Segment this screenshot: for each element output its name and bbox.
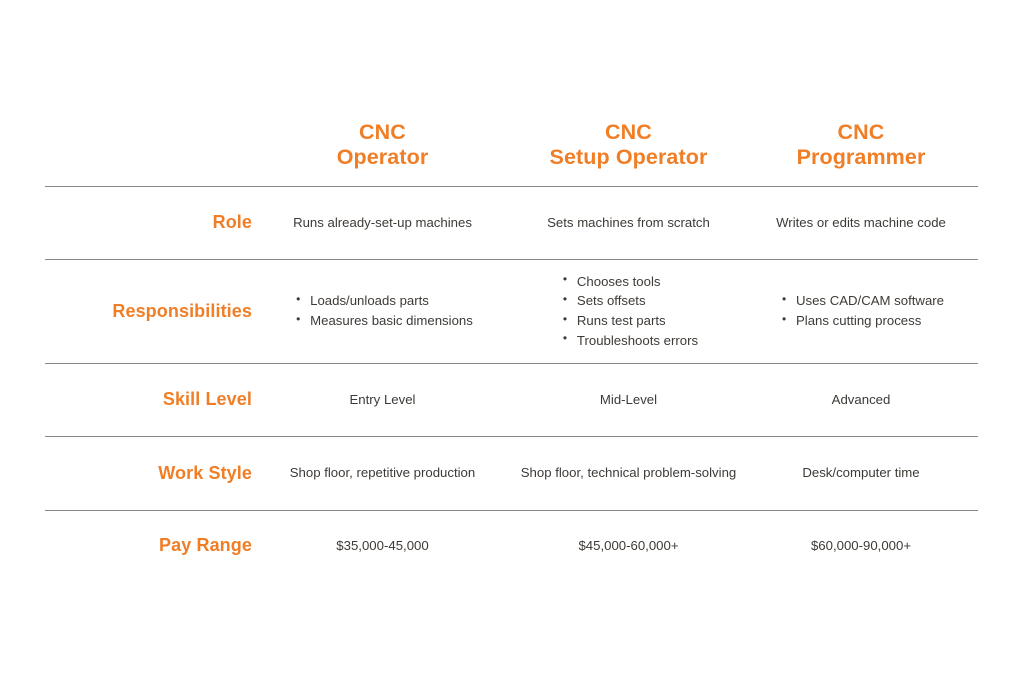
cell-text: Shop floor, technical problem-solving xyxy=(513,463,744,482)
column-header-cnc-setup-operator: CNC Setup Operator xyxy=(513,105,744,186)
cell-text: $60,000-90,000+ xyxy=(744,536,978,555)
cell-text: Advanced xyxy=(744,390,978,409)
list-item: Uses CAD/CAM software xyxy=(796,291,944,311)
column-header-line-2: Operator xyxy=(260,145,505,170)
bullet-list: Uses CAD/CAM software Plans cutting proc… xyxy=(778,291,944,330)
table-header-row: CNC Operator CNC Setup Operator CNC Prog… xyxy=(45,105,978,186)
list-item: Plans cutting process xyxy=(796,311,944,331)
cell-work-style-programmer: Desk/computer time xyxy=(744,436,978,510)
column-header-cnc-operator: CNC Operator xyxy=(252,105,513,186)
list-item: Troubleshoots errors xyxy=(577,331,698,351)
list-item: Measures basic dimensions xyxy=(310,311,473,331)
cell-text: Entry Level xyxy=(252,390,513,409)
column-header-line-1: CNC xyxy=(752,120,970,145)
cell-responsibilities-operator: Loads/unloads parts Measures basic dimen… xyxy=(252,259,513,363)
row-label-responsibilities: Responsibilities xyxy=(45,259,252,363)
cell-role-programmer: Writes or edits machine code xyxy=(744,186,978,259)
cell-role-operator: Runs already-set-up machines xyxy=(252,186,513,259)
column-header-line-1: CNC xyxy=(521,120,736,145)
cell-text: $45,000-60,000+ xyxy=(513,536,744,555)
row-label-skill-level: Skill Level xyxy=(45,363,252,436)
column-header-line-2: Setup Operator xyxy=(521,145,736,170)
table-row: Work Style Shop floor, repetitive produc… xyxy=(45,436,978,510)
table-row: Role Runs already-set-up machines Sets m… xyxy=(45,186,978,259)
cell-pay-range-programmer: $60,000-90,000+ xyxy=(744,510,978,581)
row-label-role: Role xyxy=(45,186,252,259)
cell-pay-range-operator: $35,000-45,000 xyxy=(252,510,513,581)
cell-text: Writes or edits machine code xyxy=(744,213,978,232)
cell-pay-range-setup-operator: $45,000-60,000+ xyxy=(513,510,744,581)
column-header-line-1: CNC xyxy=(260,120,505,145)
cell-responsibilities-programmer: Uses CAD/CAM software Plans cutting proc… xyxy=(744,259,978,363)
cell-work-style-setup-operator: Shop floor, technical problem-solving xyxy=(513,436,744,510)
table-row: Pay Range $35,000-45,000 $45,000-60,000+… xyxy=(45,510,978,581)
header-corner-spacer xyxy=(45,105,252,186)
cell-text: Runs already-set-up machines xyxy=(252,213,513,232)
bullet-list: Chooses tools Sets offsets Runs test par… xyxy=(559,272,698,350)
cell-text: $35,000-45,000 xyxy=(252,536,513,555)
table-row: Skill Level Entry Level Mid-Level Advanc… xyxy=(45,363,978,436)
cell-text: Desk/computer time xyxy=(744,463,978,482)
row-label-pay-range: Pay Range xyxy=(45,510,252,581)
cell-role-setup-operator: Sets machines from scratch xyxy=(513,186,744,259)
list-item: Loads/unloads parts xyxy=(310,291,473,311)
cell-skill-level-operator: Entry Level xyxy=(252,363,513,436)
cell-skill-level-setup-operator: Mid-Level xyxy=(513,363,744,436)
cell-text: Mid-Level xyxy=(513,390,744,409)
column-header-cnc-programmer: CNC Programmer xyxy=(744,105,978,186)
cell-responsibilities-setup-operator: Chooses tools Sets offsets Runs test par… xyxy=(513,259,744,363)
list-item: Chooses tools xyxy=(577,272,698,292)
cnc-roles-comparison-table: CNC Operator CNC Setup Operator CNC Prog… xyxy=(45,105,978,581)
table-row: Responsibilities Loads/unloads parts Mea… xyxy=(45,259,978,363)
row-label-work-style: Work Style xyxy=(45,436,252,510)
cell-text: Sets machines from scratch xyxy=(513,213,744,232)
list-item: Runs test parts xyxy=(577,311,698,331)
cell-work-style-operator: Shop floor, repetitive production xyxy=(252,436,513,510)
page-canvas: CNC Operator CNC Setup Operator CNC Prog… xyxy=(0,0,1024,685)
cell-skill-level-programmer: Advanced xyxy=(744,363,978,436)
column-header-line-2: Programmer xyxy=(752,145,970,170)
list-item: Sets offsets xyxy=(577,291,698,311)
bullet-list: Loads/unloads parts Measures basic dimen… xyxy=(292,291,473,330)
cell-text: Shop floor, repetitive production xyxy=(252,463,513,482)
